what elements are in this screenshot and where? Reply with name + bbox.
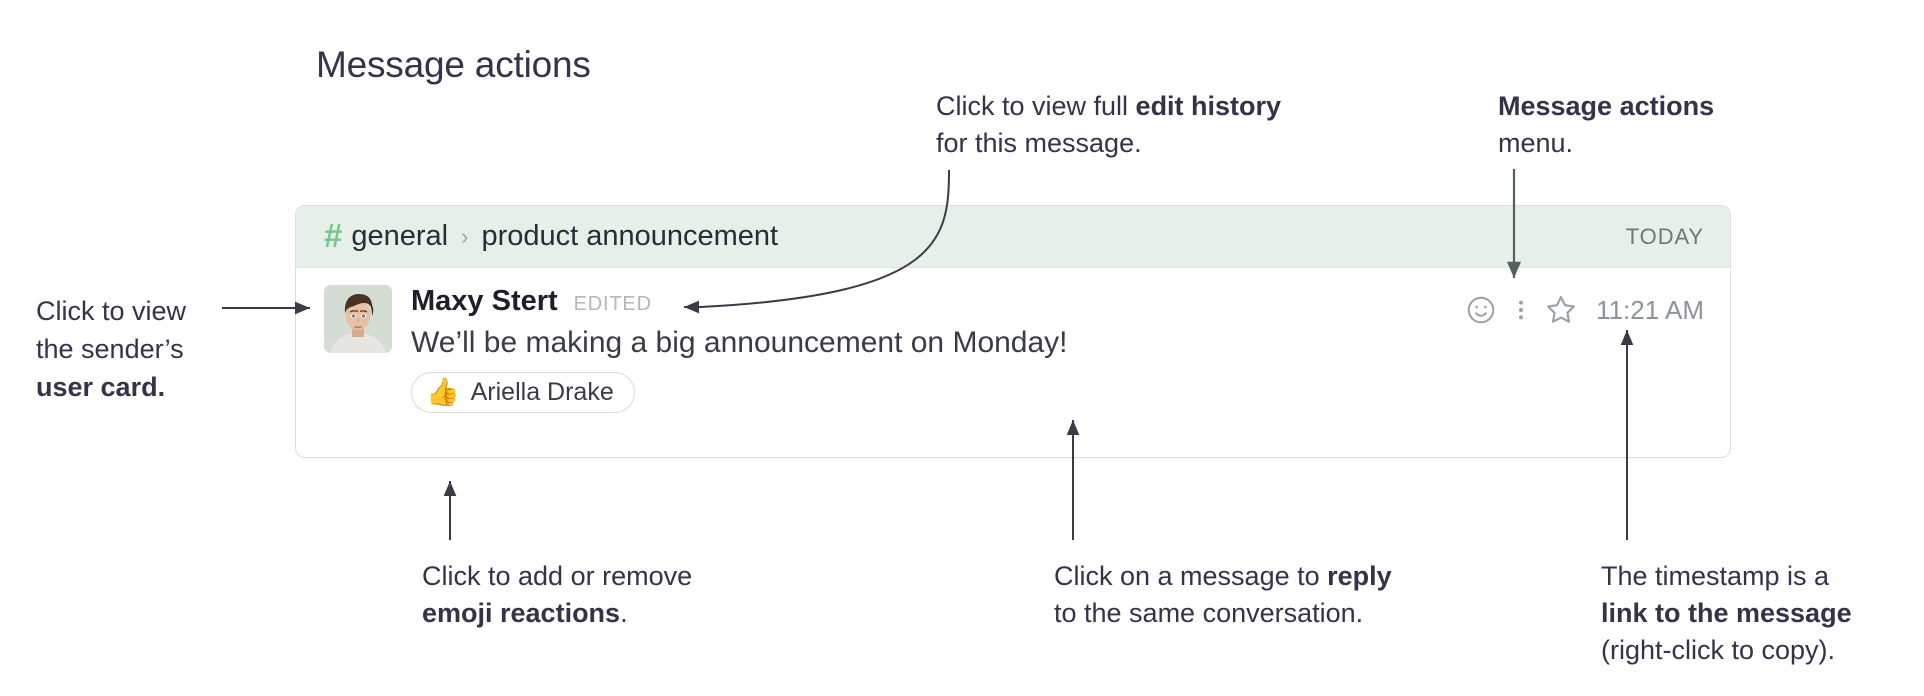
annotation-emoji-line1: Click to add or remove <box>422 558 692 595</box>
emoji-reaction-icon[interactable] <box>1458 290 1504 330</box>
annotation-timestamp-link: The timestamp is a link to the message (… <box>1601 558 1852 669</box>
annotation-timestamp-line1: The timestamp is a <box>1601 558 1852 595</box>
annotation-reply: Click on a message to reply to the same … <box>1054 558 1392 632</box>
annotation-edit-history: Click to view full edit history for this… <box>936 88 1281 162</box>
annotation-actions-menu-line1: Message actions <box>1498 91 1714 121</box>
chevron-right-icon: › <box>461 226 468 248</box>
annotation-edit-history-line2: for this message. <box>936 125 1281 162</box>
reaction-user-label: Ariella Drake <box>471 378 614 407</box>
message-body-text[interactable]: We’ll be making a big announcement on Mo… <box>411 326 1704 360</box>
annotation-user-card-line1: Click to view <box>36 292 186 330</box>
annotation-reply-line1-plain: Click on a message to <box>1054 561 1327 591</box>
annotation-user-card-line2: the sender’s <box>36 330 186 368</box>
breadcrumb-stream-name[interactable]: general <box>351 220 448 253</box>
date-label: TODAY <box>1626 224 1704 250</box>
annotation-actions-menu-line2: menu. <box>1498 125 1714 162</box>
message-action-icons: 11:21 AM <box>1458 290 1704 330</box>
annotation-user-card-line3: user card. <box>36 372 165 402</box>
page-title: Message actions <box>316 44 591 86</box>
stream-topic-header: # general › product announcement TODAY <box>296 206 1730 268</box>
annotation-emoji-line2-plain: . <box>620 598 628 628</box>
breadcrumb-topic-name[interactable]: product announcement <box>481 220 778 253</box>
annotation-edit-history-line1-bold: edit history <box>1136 91 1282 121</box>
annotation-reply-line2: to the same conversation. <box>1054 595 1392 632</box>
annotation-reply-line1-bold: reply <box>1327 561 1392 591</box>
annotation-edit-history-line1-plain: Click to view full <box>936 91 1136 121</box>
thumbs-up-icon: 👍 <box>426 379 460 406</box>
annotation-actions-menu: Message actions menu. <box>1498 88 1714 162</box>
message-actions-menu-icon[interactable] <box>1504 290 1538 330</box>
reaction-row: 👍 Ariella Drake <box>411 372 1704 413</box>
edited-badge[interactable]: EDITED <box>574 293 652 316</box>
hash-icon: # <box>324 219 342 252</box>
annotation-emoji-reactions: Click to add or remove emoji reactions. <box>422 558 692 632</box>
emoji-reaction-pill[interactable]: 👍 Ariella Drake <box>411 372 635 413</box>
annotation-timestamp-line3: (right-click to copy). <box>1601 632 1852 669</box>
message-row[interactable]: Maxy Stert EDITED We’ll be making a big … <box>296 268 1730 413</box>
avatar[interactable] <box>324 285 392 353</box>
annotation-emoji-line2-bold: emoji reactions <box>422 598 620 628</box>
annotation-timestamp-line2: link to the message <box>1601 598 1852 628</box>
sender-name[interactable]: Maxy Stert <box>411 285 558 318</box>
annotation-user-card: Click to view the sender’s user card. <box>36 292 186 406</box>
message-card: # general › product announcement TODAY <box>295 205 1731 458</box>
star-icon[interactable] <box>1538 290 1584 330</box>
message-timestamp-link[interactable]: 11:21 AM <box>1596 295 1704 326</box>
